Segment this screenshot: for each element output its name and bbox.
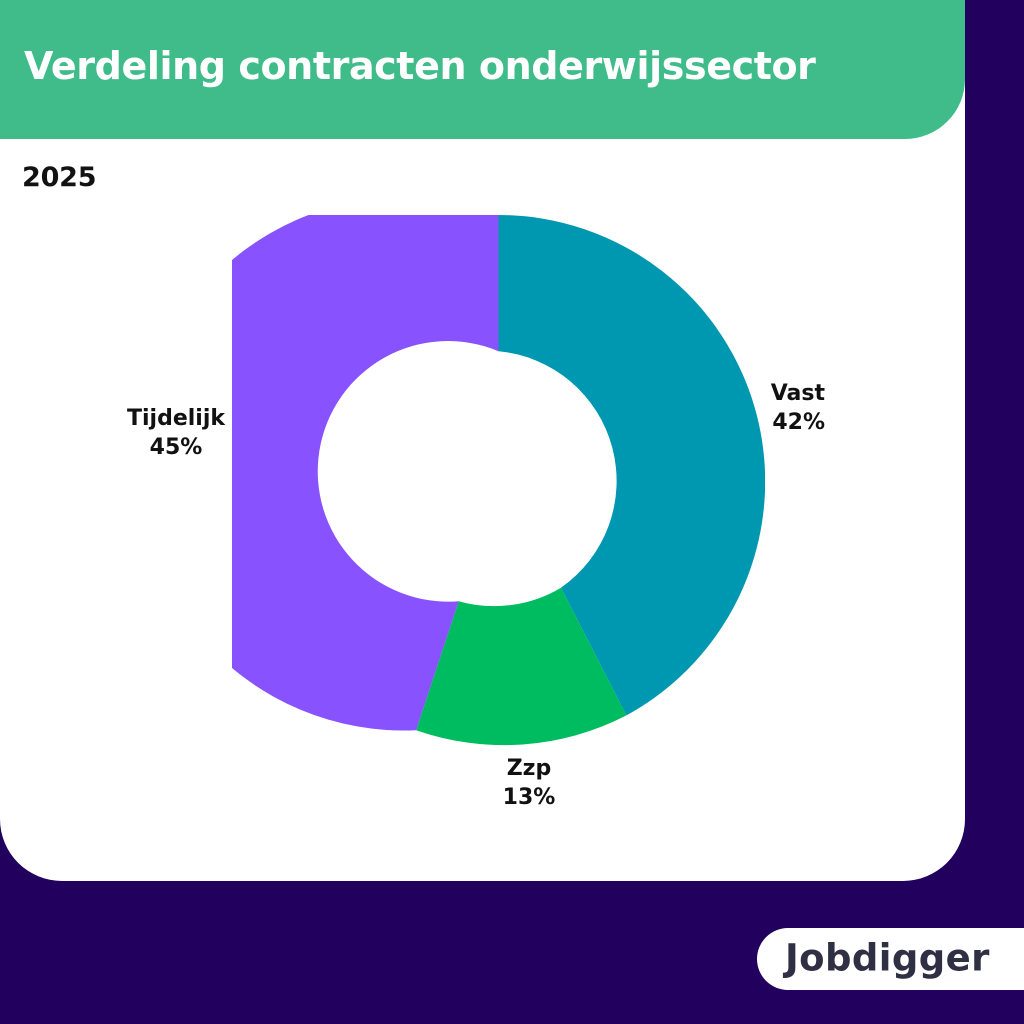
donut-chart: Vast 42% Tijdelijk 45% Zzp 13% [0,139,965,881]
content-card: Verdeling contracten onderwijssector 202… [0,0,965,881]
slice-label-tijdelijk-name: Tijdelijk [127,406,225,431]
header-band: Verdeling contracten onderwijssector [0,0,965,139]
slice-label-tijdelijk: Tijdelijk 45% [100,404,252,462]
slice-label-zzp: Zzp 13% [455,754,603,812]
slice-label-vast: Vast 42% [680,379,825,437]
slice-label-zzp-value: 13% [455,783,603,812]
slice-label-vast-name: Vast [771,381,825,406]
page-title: Verdeling contracten onderwijssector [24,46,816,88]
slice-label-zzp-name: Zzp [507,756,552,781]
donut-graphic [232,215,765,748]
slice-label-tijdelijk-value: 45% [100,433,252,462]
jobdigger-logo-text: Jobdigger [785,937,990,980]
jobdigger-logo: Jobdigger [757,928,1024,990]
slice-label-vast-value: 42% [680,408,825,437]
donut-svg [232,215,765,748]
poster-canvas: Verdeling contracten onderwijssector 202… [0,0,1024,1024]
